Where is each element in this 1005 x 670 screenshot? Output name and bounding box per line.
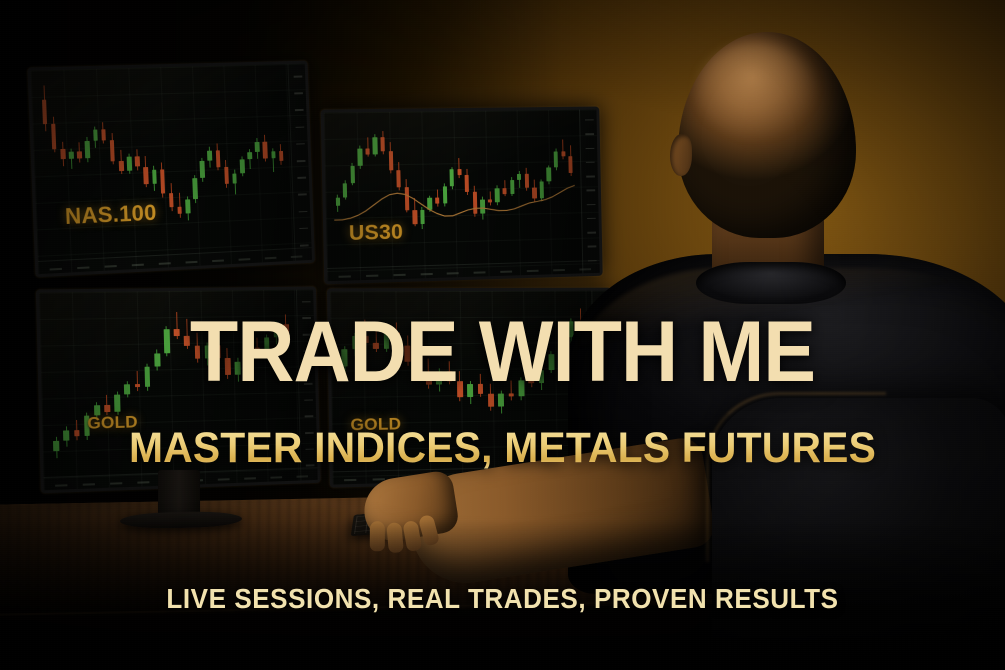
poster-tagline: LIVE SESSIONS, REAL TRADES, PROVEN RESUL…: [35, 583, 970, 615]
poster-headline: TRADE WITH ME: [40, 310, 965, 394]
poster-subheadline: MASTER INDICES, METALS FUTURES: [25, 424, 980, 473]
poster-canvas: NAS.100 US30 GOLD: [0, 0, 1005, 670]
